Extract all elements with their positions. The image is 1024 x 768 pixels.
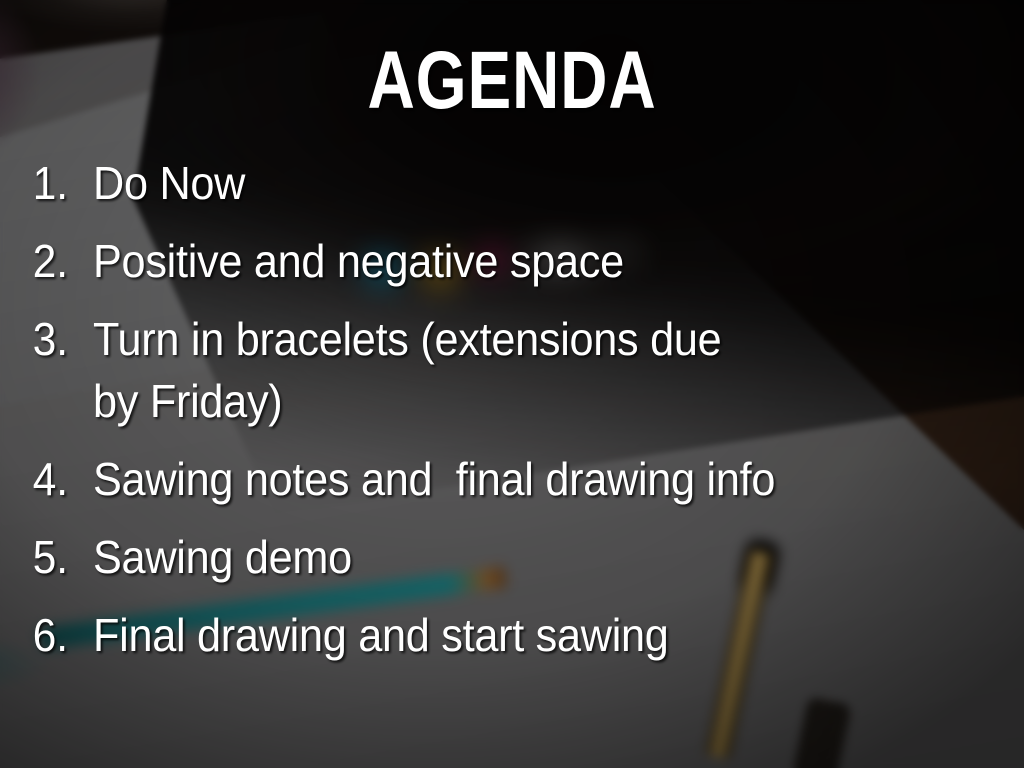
- agenda-slide: AGENDA 1. Do Now 2. Positive and negativ…: [0, 0, 1024, 768]
- slide-content: AGENDA 1. Do Now 2. Positive and negativ…: [0, 0, 1024, 768]
- list-item: 3. Turn in bracelets (extensions due by …: [0, 308, 1024, 432]
- page-title: AGENDA: [102, 40, 921, 122]
- list-item-text: Positive and negative space: [93, 230, 624, 292]
- list-item: 5. Sawing demo: [0, 526, 1024, 588]
- list-item-number: 1.: [5, 152, 68, 214]
- list-item-text: Sawing notes and final drawing info: [93, 448, 775, 510]
- list-item-text: Sawing demo: [93, 526, 352, 588]
- list-item-number: 2.: [5, 230, 68, 292]
- list-item: 4. Sawing notes and final drawing info: [0, 448, 1024, 510]
- list-item: 1. Do Now: [0, 152, 1024, 214]
- list-item-text: Final drawing and start sawing: [93, 604, 669, 666]
- list-item-number: 4.: [5, 448, 68, 510]
- list-item: 6. Final drawing and start sawing: [0, 604, 1024, 666]
- list-item-text: Turn in bracelets (extensions due by Fri…: [93, 308, 751, 432]
- list-item-number: 3.: [5, 308, 68, 370]
- agenda-list: 1. Do Now 2. Positive and negative space…: [0, 152, 1024, 682]
- list-item-text: Do Now: [93, 152, 245, 214]
- list-item: 2. Positive and negative space: [0, 230, 1024, 292]
- list-item-number: 5.: [5, 526, 68, 588]
- list-item-number: 6.: [5, 604, 68, 666]
